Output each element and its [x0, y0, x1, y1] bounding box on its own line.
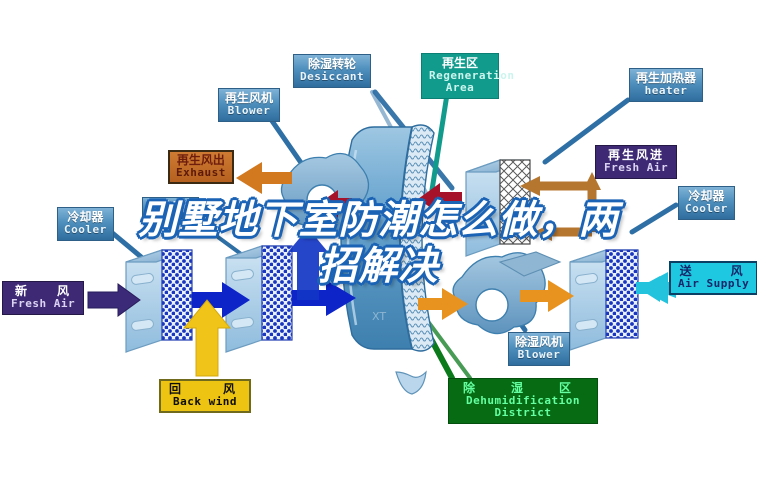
label-cooler-left-b-cn: 冷却器	[149, 201, 192, 214]
label-regen-area-en: Regeneration Area	[429, 70, 491, 94]
label-cooler-left-b[interactable]: 冷却器 Cooler	[142, 197, 199, 219]
label-regen-fresh-air-cn: 再生风进	[604, 149, 668, 162]
label-cooler-left-a-en: Cooler	[64, 224, 107, 236]
label-regen-heater-cn: 再生加热器	[636, 72, 696, 85]
label-regen-heater-en: heater	[636, 85, 696, 97]
label-dehumid-district[interactable]: 除 湿 区 Dehumidification District	[448, 378, 598, 424]
label-dehumid-blower-en: Blower	[515, 349, 563, 361]
label-cooler-right-en: Cooler	[685, 203, 728, 215]
label-regen-blower-cn: 再生风机	[225, 92, 273, 105]
label-air-supply[interactable]: 送 风 Air Supply	[669, 261, 757, 295]
label-back-wind-en: Back wind	[169, 396, 241, 408]
label-desiccant-rotor-cn: 除湿转轮	[300, 58, 364, 71]
label-dehumid-blower-cn: 除湿风机	[515, 336, 563, 349]
label-regen-fresh-air[interactable]: 再生风进 Fresh Air	[595, 145, 677, 179]
diagram-canvas: XT	[0, 0, 757, 488]
label-regen-heater[interactable]: 再生加热器 heater	[629, 68, 703, 102]
label-back-wind-cn: 回 风	[169, 383, 241, 396]
label-regen-exhaust-en: Exhaust	[176, 167, 226, 179]
label-air-supply-cn: 送 风	[678, 265, 749, 278]
label-regen-area-cn: 再生区	[429, 57, 491, 70]
label-cooler-left-a-cn: 冷却器	[64, 211, 107, 224]
label-fresh-air-in[interactable]: 新 风 Fresh Air	[2, 281, 84, 315]
label-regen-blower[interactable]: 再生风机 Blower	[218, 88, 280, 122]
label-regen-blower-en: Blower	[225, 105, 273, 117]
label-air-supply-en: Air Supply	[678, 278, 749, 290]
label-desiccant-rotor[interactable]: 除湿转轮 Desiccant	[293, 54, 371, 88]
label-regen-fresh-air-en: Fresh Air	[604, 162, 668, 174]
label-regen-area[interactable]: 再生区 Regeneration Area	[421, 53, 499, 99]
label-cooler-right-cn: 冷却器	[685, 190, 728, 203]
label-cooler-right[interactable]: 冷却器 Cooler	[678, 186, 735, 220]
label-fresh-air-in-cn: 新 风	[11, 285, 75, 298]
flow-regen-inlet-duct	[532, 186, 592, 232]
label-dehumid-blower[interactable]: 除湿风机 Blower	[508, 332, 570, 366]
svg-text:XT: XT	[372, 310, 386, 323]
label-dehumid-district-cn: 除 湿 区	[458, 382, 588, 395]
label-regen-exhaust[interactable]: 再生风出 Exhaust	[168, 150, 234, 184]
label-cooler-left-a[interactable]: 冷却器 Cooler	[57, 207, 114, 241]
label-regen-exhaust-cn: 再生风出	[176, 154, 226, 167]
flow-riser-blue	[288, 228, 328, 300]
label-dehumid-district-en: Dehumidification District	[458, 395, 588, 419]
regen-heater-unit	[466, 160, 530, 256]
cooler-unit-right	[570, 250, 638, 350]
label-back-wind[interactable]: 回 风 Back wind	[159, 379, 251, 413]
label-fresh-air-in-en: Fresh Air	[11, 298, 75, 310]
label-desiccant-rotor-en: Desiccant	[300, 71, 364, 83]
